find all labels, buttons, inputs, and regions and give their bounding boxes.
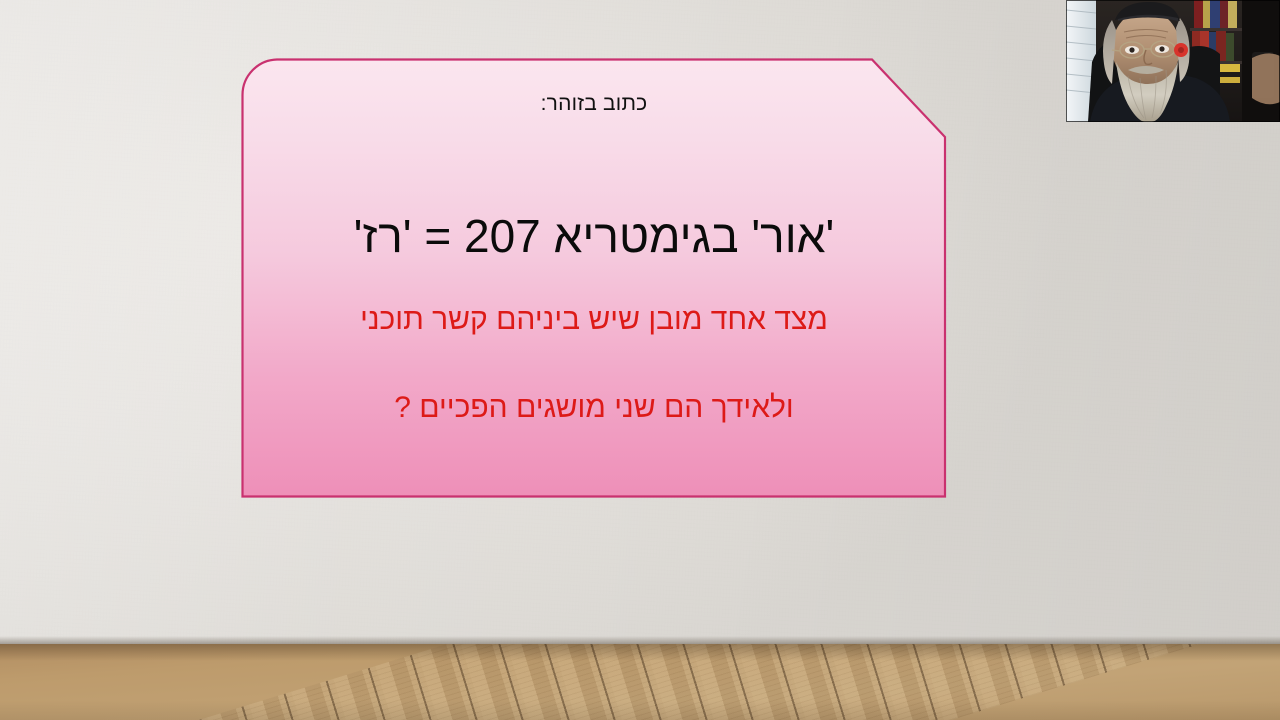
webcam-video-frame <box>1066 0 1280 122</box>
floor-vignette <box>0 644 1280 720</box>
floor-baseboard-shadow <box>0 636 1280 644</box>
presenter-webcam-overlay[interactable] <box>1066 0 1280 122</box>
callout-text-content: כתוב בזוהר: 'אור' בגימטריא 207 = 'רז' מצ… <box>241 58 947 498</box>
callout-title: כתוב בזוהר: <box>241 92 947 116</box>
wooden-floor <box>0 644 1280 720</box>
callout-red-line-2: ולאידך הם שני מושגים הפכיים ? <box>241 391 947 425</box>
callout-main-line: 'אור' בגימטריא 207 = 'רז' <box>241 209 947 263</box>
pink-callout-box: כתוב בזוהר: 'אור' בגימטריא 207 = 'רז' מצ… <box>241 58 947 498</box>
callout-red-line-1: מצד אחד מובן שיש ביניהם קשר תוכני <box>241 303 947 337</box>
slide-stage: כתוב בזוהר: 'אור' בגימטריא 207 = 'רז' מצ… <box>0 0 1280 720</box>
